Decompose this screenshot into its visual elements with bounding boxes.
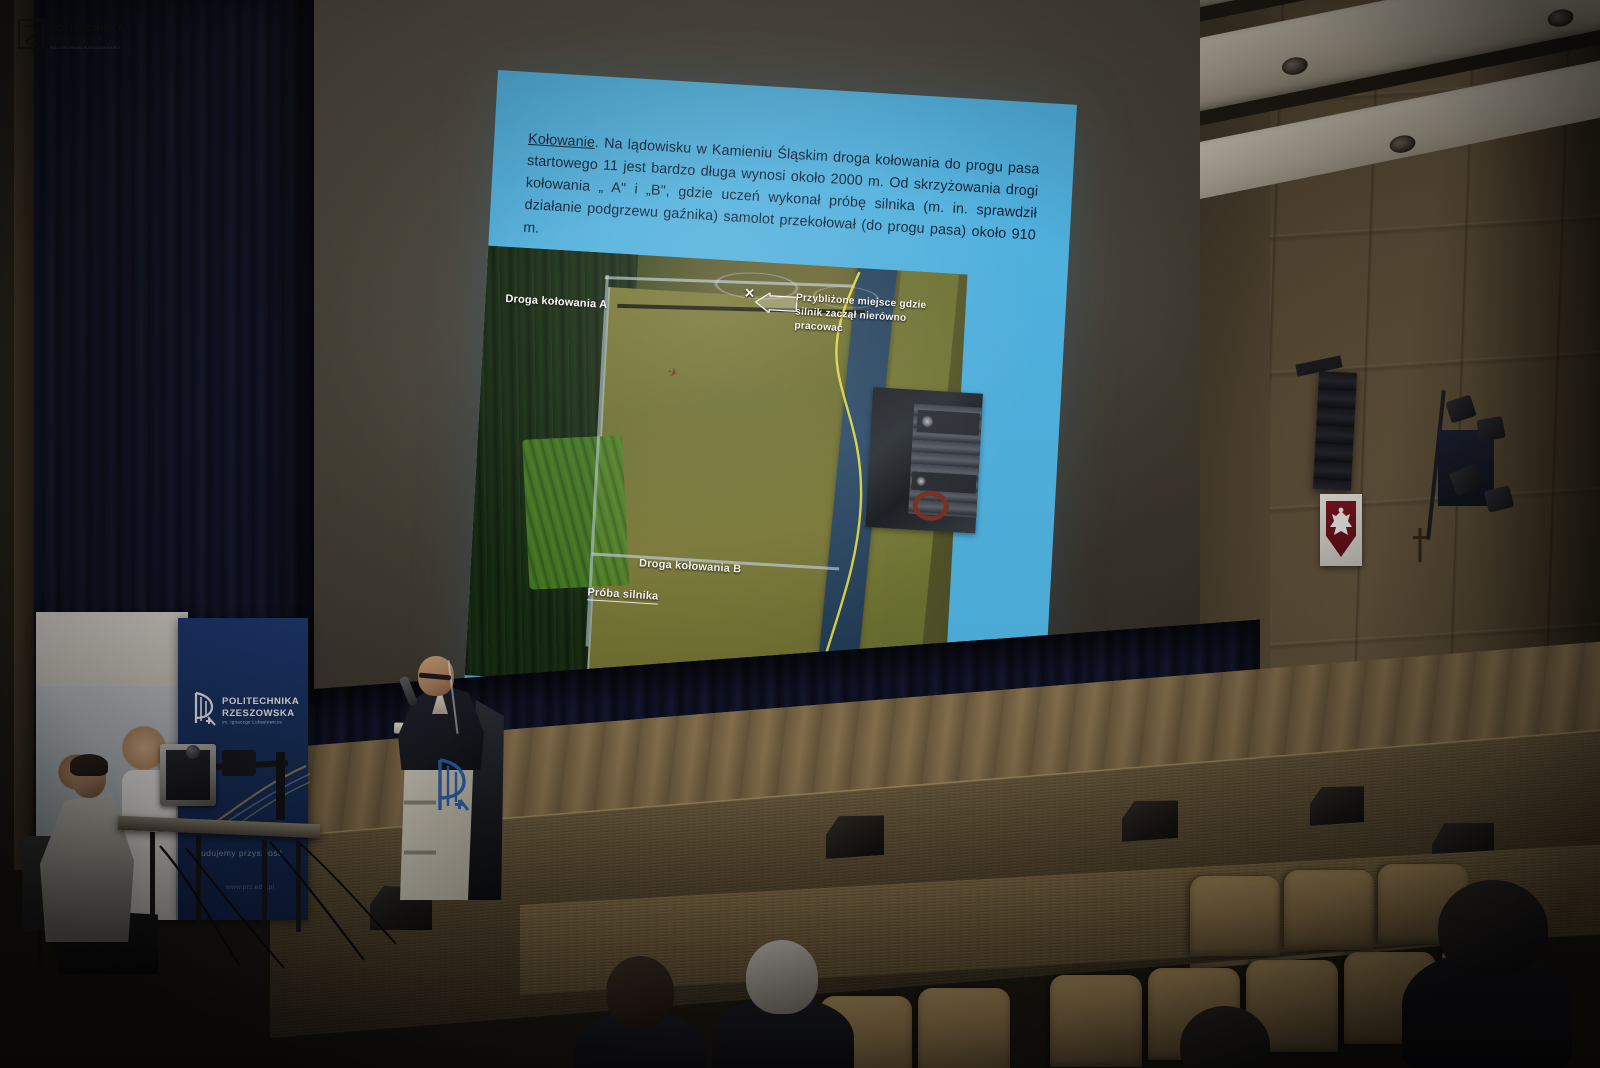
cockpit-inset-photo <box>865 387 982 533</box>
instrument-dials-lower <box>912 472 977 494</box>
auditorium-scene: Kołowanie. Na lądowisku w Kamieniu Śląsk… <box>0 0 1600 1068</box>
downlight-icon <box>1388 133 1417 155</box>
slide-heading: Kołowanie <box>528 131 596 151</box>
audience-seat[interactable] <box>1050 975 1142 1067</box>
camera-mount <box>222 750 256 776</box>
incident-x-marker: ✕ <box>744 285 756 302</box>
camera-ball-head <box>186 745 200 759</box>
crop-rows <box>522 435 629 589</box>
label-engine-fault-callout: Przybliżone miejsce gdzie silnik zaczął … <box>794 291 936 341</box>
svg-text:POLITECHNIKA: POLITECHNIKA <box>222 696 299 707</box>
projection-screen: Kołowanie. Na lądowisku w Kamieniu Śląsk… <box>463 70 1077 734</box>
slide-text-block: Kołowanie. Na lądowisku w Kamieniu Śląsk… <box>523 128 1040 269</box>
svg-text:POLITECHNIKA: POLITECHNIKA <box>50 23 125 33</box>
desk-leg <box>262 840 267 932</box>
audience-seat[interactable] <box>918 988 1010 1068</box>
instrument-dials <box>917 410 980 436</box>
polish-eagle-emblem <box>1320 494 1362 566</box>
audience-seat[interactable] <box>1190 876 1280 956</box>
desk-leg <box>150 832 155 928</box>
stage-light-icon <box>1476 416 1505 442</box>
callout-arrow-icon <box>753 292 798 315</box>
line-array-speaker-icon <box>1313 371 1357 491</box>
operator-hair <box>70 754 108 776</box>
crucifix-icon <box>1412 528 1428 562</box>
audience-head <box>606 956 674 1028</box>
presentation-slide: Kołowanie. Na lądowisku w Kamieniu Śląsk… <box>463 70 1077 734</box>
downlight-icon <box>1546 7 1575 29</box>
camera-post <box>276 752 285 820</box>
politechnika-rzeszowska-logo-icon: POLITECHNIKA RZESZOWSKA im. Ignacego Łuk… <box>192 690 300 730</box>
svg-text:RZESZOWSKA: RZESZOWSKA <box>222 708 295 719</box>
audience-seat[interactable] <box>1284 870 1374 950</box>
desk-leg <box>296 842 301 932</box>
svg-text:DZIECIĘCA: DZIECIĘCA <box>50 34 104 44</box>
podium-logo-icon <box>434 756 472 814</box>
slide-body: . Na lądowisku w Kamieniu Śląskim droga … <box>523 135 1040 244</box>
banner-url: www.prz.edu.pl <box>226 884 274 891</box>
eagle-icon <box>1326 501 1356 557</box>
audience-head <box>746 940 818 1014</box>
audience-head <box>1438 880 1548 976</box>
svg-text:im. Ignacego Łukasiewicza: im. Ignacego Łukasiewicza <box>222 720 282 725</box>
curtain-edge <box>14 0 34 870</box>
desk-leg <box>196 836 201 932</box>
svg-text:POLITECHNIKI RZESZOWSKIEJ: POLITECHNIKI RZESZOWSKIEJ <box>50 45 120 50</box>
politechnika-dziecieca-logo-icon: POLITECHNIKA DZIECIĘCA POLITECHNIKI RZES… <box>18 18 138 54</box>
downlight-icon <box>1280 55 1309 77</box>
